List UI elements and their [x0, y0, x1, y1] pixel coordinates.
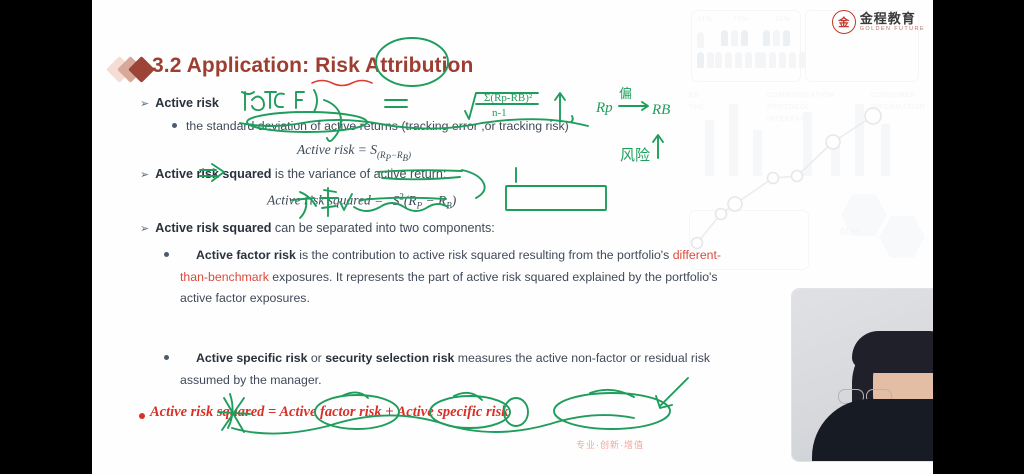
bullet-components: ➢Active risk squared can be separated in… — [140, 218, 495, 240]
svg-text:Σ(Rp-RB)²: Σ(Rp-RB)² — [484, 92, 533, 104]
bg-number: 40% — [839, 226, 861, 238]
equation-active-risk: Active risk = S(RP−RB) — [297, 142, 411, 162]
asr-bold-2: security selection risk — [325, 351, 454, 365]
bullet-dot-icon-3 — [164, 355, 169, 360]
arrow-marker-icon-3: ➢ — [140, 223, 149, 235]
bg-label-4: THE — [689, 104, 705, 111]
svg-text:偏: 偏 — [619, 87, 632, 102]
bg-label-0: 41% — [697, 16, 713, 23]
logo-seal-icon: 金 — [832, 10, 856, 34]
bg-label-1: 73% — [733, 16, 749, 23]
brand-logo: 金 金程教育 GOLDEN FUTURE — [832, 10, 925, 34]
asr-bold-1: Active specific risk — [196, 351, 307, 365]
logo-english-name: GOLDEN FUTURE — [860, 25, 925, 33]
bullet-components-rest: can be separated into two components: — [271, 221, 494, 235]
screen-root: 41% 73% 35% ES THE COMMUNICATION PROTOCO… — [0, 0, 1024, 474]
bullet-dot-icon-2 — [164, 252, 169, 257]
bullet-dot-icon — [172, 123, 177, 128]
bullet-active-risk-label: Active risk — [155, 96, 219, 110]
bg-card-people-left — [691, 10, 801, 82]
slide-canvas: 41% 73% 35% ES THE COMMUNICATION PROTOCO… — [92, 0, 933, 474]
final-equation: Active risk squared = Active factor risk… — [150, 404, 509, 421]
bg-label-7: INTERFACE — [767, 116, 811, 123]
footer-slogan: 专业·创新·增值 — [576, 438, 644, 451]
afr-bold: Active factor risk — [196, 248, 296, 262]
sub-bullet-active-risk-text: the standard deviation of active returns… — [186, 119, 569, 133]
bg-label-9: INFORMATION — [871, 104, 925, 111]
bg-label-3: ES — [689, 92, 699, 99]
bg-label-2: 35% — [775, 16, 791, 23]
bg-label-6: PROTOCOL — [767, 104, 811, 111]
asr-mid: or — [307, 351, 325, 365]
instructor-webcam[interactable] — [792, 289, 933, 461]
letterbox-left — [0, 0, 92, 474]
para-active-factor-risk: Active factor risk is the contribution t… — [164, 245, 724, 310]
logo-chinese-name: 金程教育 — [860, 12, 925, 25]
arrow-marker-icon: ➢ — [140, 98, 149, 110]
bullet-active-risk: ➢Active risk — [140, 93, 219, 115]
afr-text-1: is the contribution to active risk squar… — [296, 248, 673, 262]
sub-bullet-active-risk-def: the standard deviation of active returns… — [172, 116, 732, 138]
bullet-ars-label: Active risk squared — [155, 167, 271, 181]
arrow-marker-icon-2: ➢ — [140, 169, 149, 181]
bullet-components-label: Active risk squared — [155, 221, 271, 235]
bullet-dot-icon-4 — [139, 413, 145, 419]
letterbox-right — [933, 0, 1024, 474]
title-diamond-icon — [110, 58, 158, 82]
para-active-specific-risk: Active specific risk or security selecti… — [164, 348, 724, 391]
bg-label-5: COMMUNICATION — [767, 92, 834, 99]
svg-text:风险: 风险 — [620, 146, 650, 164]
equation-active-risk-squared: Active risk squared = S2(RP − RB) — [267, 191, 462, 210]
page-title: 3.2 Application: Risk Attribution — [152, 54, 473, 78]
bullet-ars-rest: is the variance of active return: — [271, 167, 446, 181]
bullet-active-risk-squared: ➢Active risk squared is the variance of … — [140, 164, 446, 186]
svg-text:Rp: Rp — [595, 100, 613, 116]
bg-label-8: CONSUMER — [871, 92, 916, 99]
